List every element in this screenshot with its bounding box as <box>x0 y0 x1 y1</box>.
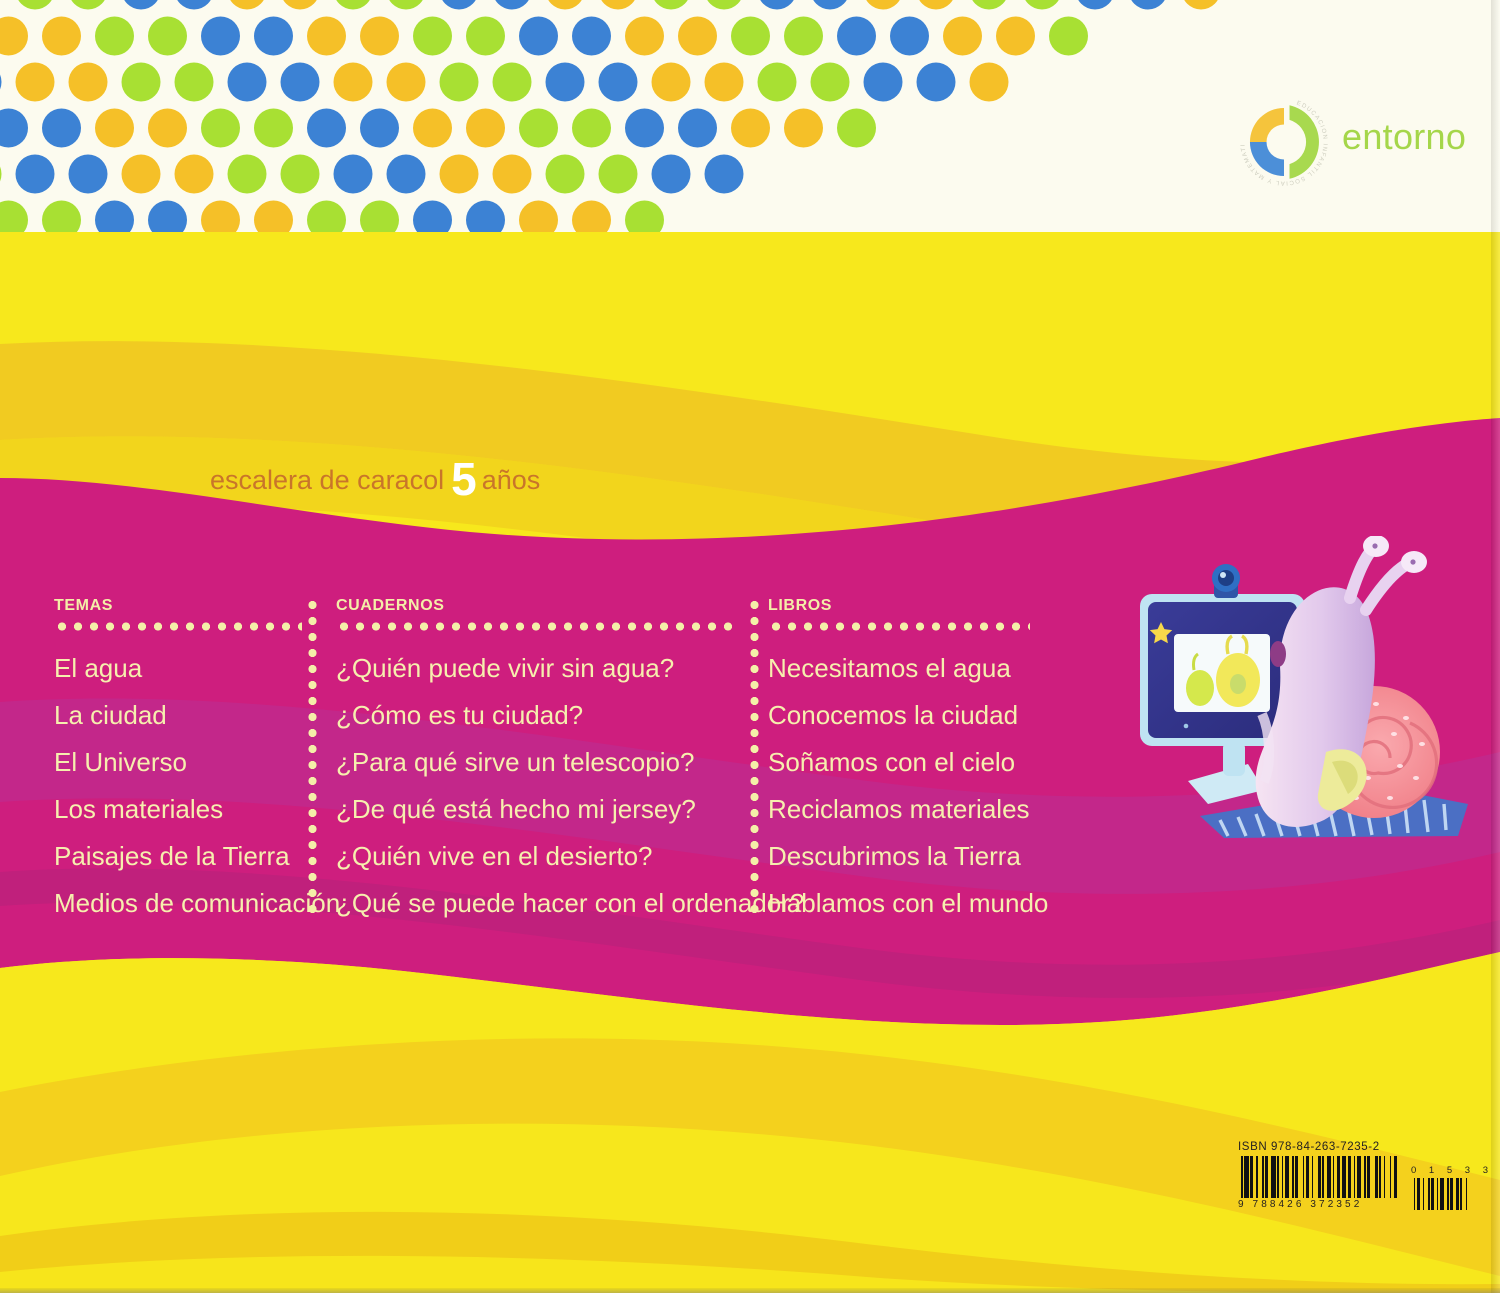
list-item: Descubrimos la Tierra <box>768 833 1038 880</box>
isbn-text: ISBN 978-84-263-7235-2 <box>1238 1141 1488 1153</box>
isbn-label: ISBN <box>1238 1141 1267 1153</box>
list-item: Reciclamos materiales <box>768 786 1038 833</box>
column-cuadernos: CUADERNOS ¿Quién puede vivir sin agua? ¿… <box>336 597 746 927</box>
list-cuadernos: ¿Quién puede vivir sin agua? ¿Cómo es tu… <box>336 645 746 927</box>
list-temas: El agua La ciudad El Universo Los materi… <box>54 645 304 927</box>
list-item: ¿Quién puede vivir sin agua? <box>336 645 746 692</box>
column-separator-1 <box>308 597 317 919</box>
ean13-barcode: 9 788426 372352 <box>1238 1156 1397 1210</box>
list-item: ¿Quién vive en el desierto? <box>336 833 746 880</box>
list-item: Conocemos la ciudad <box>768 692 1038 739</box>
barcode-block: ISBN 978-84-263-7235-2 9 788426 372352 0… <box>1238 1141 1488 1210</box>
list-item: ¿Para qué sirve un telescopio? <box>336 739 746 786</box>
column-temas: TEMAS El agua La ciudad El Universo Los … <box>54 597 304 927</box>
list-item: Medios de comunicación <box>54 880 304 927</box>
list-item: Necesitamos el agua <box>768 645 1038 692</box>
list-item: Hablamos con el mundo <box>768 880 1038 927</box>
barcode-addon-digits: 0 1 5 3 3 <box>1411 1165 1493 1176</box>
list-item: ¿Qué se puede hacer con el ordenador? <box>336 880 746 927</box>
barcode-addon-bars <box>1411 1178 1493 1210</box>
barcode-bars <box>1238 1156 1397 1198</box>
list-item: ¿Cómo es tu ciudad? <box>336 692 746 739</box>
dotted-rule <box>54 622 302 631</box>
column-header-libros: LIBROS <box>768 597 1038 615</box>
snail-tentacles <box>1350 536 1427 610</box>
cover-bottom-edge <box>0 1288 1500 1293</box>
dotted-rule <box>768 622 1030 631</box>
webcam-icon <box>1212 564 1240 598</box>
list-item: Paisajes de la Tierra <box>54 833 304 880</box>
list-libros: Necesitamos el agua Conocemos la ciudad … <box>768 645 1038 927</box>
list-item: Soñamos con el cielo <box>768 739 1038 786</box>
list-item: El Universo <box>54 739 304 786</box>
isbn-number: 978-84-263-7235-2 <box>1271 1141 1380 1153</box>
dotted-rule <box>336 622 736 631</box>
list-item: Los materiales <box>54 786 304 833</box>
column-libros: LIBROS Necesitamos el agua Conocemos la … <box>768 597 1038 927</box>
column-separator-2 <box>750 597 759 919</box>
snail-at-computer-illustration <box>1128 536 1468 848</box>
list-item: La ciudad <box>54 692 304 739</box>
list-item: ¿De qué está hecho mi jersey? <box>336 786 746 833</box>
barcode-addon: 0 1 5 3 3 <box>1411 1165 1493 1210</box>
column-header-cuadernos: CUADERNOS <box>336 597 746 615</box>
spine-edge <box>1491 0 1500 1293</box>
list-item: El agua <box>54 645 304 692</box>
barcode-digits: 9 788426 372352 <box>1238 1199 1397 1210</box>
book-back-cover: EDUCACION INFANTIL SOCIAL Y MATEMATICA e… <box>0 0 1500 1293</box>
column-header-temas: TEMAS <box>54 597 304 615</box>
